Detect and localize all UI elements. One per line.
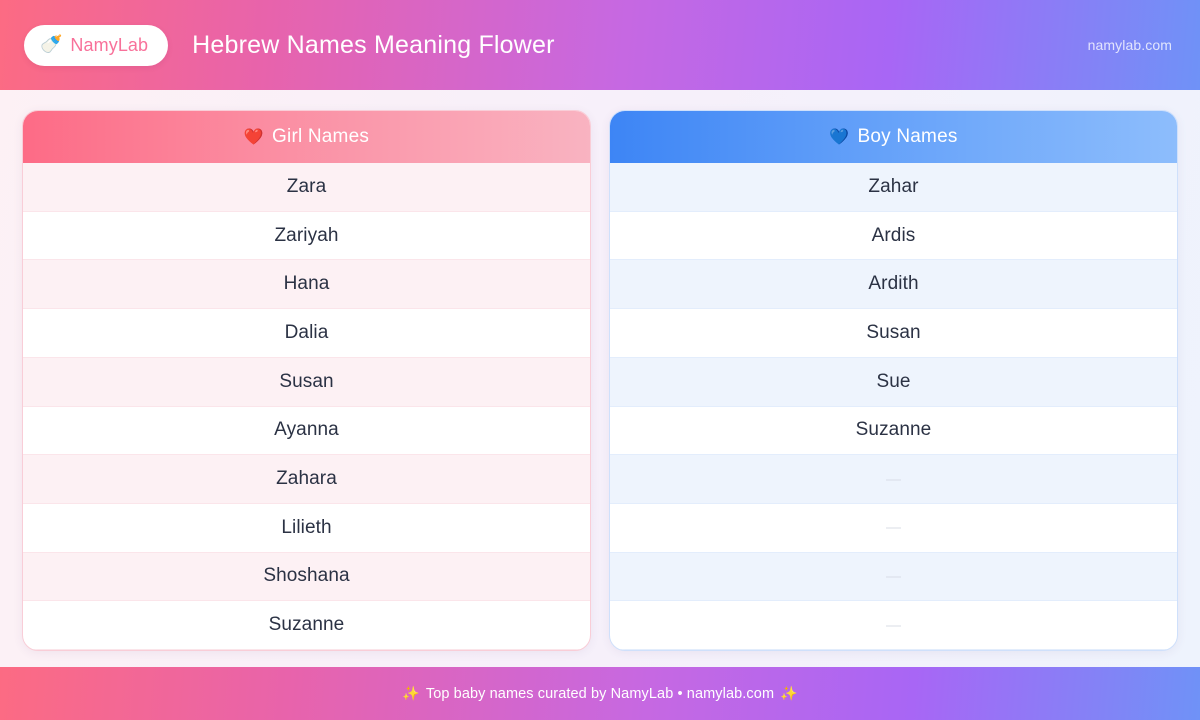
- header-site-url[interactable]: namylab.com: [1088, 37, 1172, 53]
- heart-icon: ❤️: [244, 129, 264, 145]
- list-item[interactable]: Hana: [23, 260, 590, 309]
- list-item-empty: —: [610, 504, 1177, 553]
- list-item-empty: —: [610, 601, 1177, 650]
- list-item[interactable]: Susan: [23, 358, 590, 407]
- girl-names-list: Zara Zariyah Hana Dalia Susan Ayanna Zah…: [23, 163, 590, 650]
- list-item[interactable]: Suzanne: [23, 601, 590, 650]
- boy-names-card-header: 💙 Boy Names: [610, 111, 1177, 163]
- page-title: Hebrew Names Meaning Flower: [192, 31, 554, 60]
- baby-bottle-icon: 🍼: [40, 36, 62, 54]
- logo-text: NamyLab: [70, 35, 148, 56]
- list-item[interactable]: Susan: [610, 309, 1177, 358]
- footer-credit: ✨ Top baby names curated by NamyLab • na…: [402, 686, 797, 702]
- list-item[interactable]: Lilieth: [23, 504, 590, 553]
- girl-names-card: ❤️ Girl Names Zara Zariyah Hana Dalia Su…: [22, 110, 591, 651]
- boy-names-card: 💙 Boy Names Zahar Ardis Ardith Susan Sue…: [609, 110, 1178, 651]
- list-item[interactable]: Zariyah: [23, 212, 590, 261]
- sparkles-icon-left: ✨: [402, 686, 420, 702]
- boy-names-card-title: Boy Names: [858, 126, 958, 148]
- names-columns: ❤️ Girl Names Zara Zariyah Hana Dalia Su…: [0, 90, 1200, 667]
- girl-names-card-header: ❤️ Girl Names: [23, 111, 590, 163]
- list-item[interactable]: Sue: [610, 358, 1177, 407]
- list-item-empty: —: [610, 553, 1177, 602]
- app-header: 🍼 NamyLab Hebrew Names Meaning Flower na…: [0, 0, 1200, 90]
- footer-text: Top baby names curated by NamyLab • namy…: [426, 686, 774, 702]
- list-item[interactable]: Zahara: [23, 455, 590, 504]
- blue-heart-icon: 💙: [829, 129, 849, 145]
- list-item[interactable]: Ardith: [610, 260, 1177, 309]
- girl-names-card-title: Girl Names: [272, 126, 369, 148]
- app-footer: ✨ Top baby names curated by NamyLab • na…: [0, 667, 1200, 720]
- list-item[interactable]: Zahar: [610, 163, 1177, 212]
- list-item-empty: —: [610, 455, 1177, 504]
- list-item[interactable]: Shoshana: [23, 553, 590, 602]
- boy-names-list: Zahar Ardis Ardith Susan Sue Suzanne — —…: [610, 163, 1177, 650]
- sparkles-icon-right: ✨: [780, 686, 798, 702]
- list-item[interactable]: Suzanne: [610, 407, 1177, 456]
- list-item[interactable]: Dalia: [23, 309, 590, 358]
- list-item[interactable]: Zara: [23, 163, 590, 212]
- namylab-logo-badge[interactable]: 🍼 NamyLab: [24, 25, 168, 66]
- list-item[interactable]: Ayanna: [23, 407, 590, 456]
- page-root: 🍼 NamyLab Hebrew Names Meaning Flower na…: [0, 0, 1200, 720]
- list-item[interactable]: Ardis: [610, 212, 1177, 261]
